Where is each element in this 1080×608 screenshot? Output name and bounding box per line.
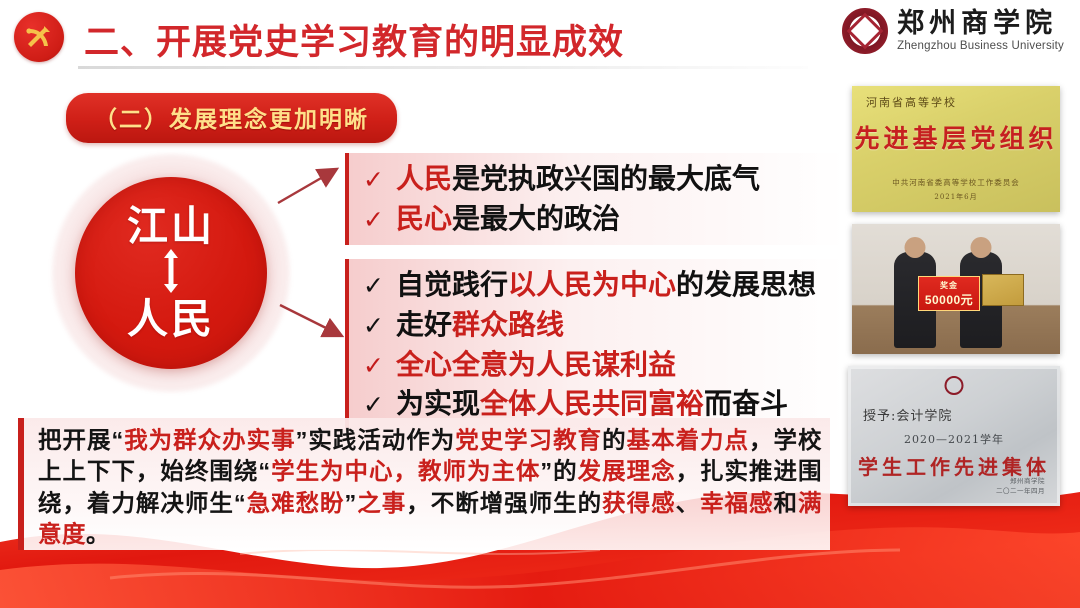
plaque-line-1: 授予:会计学院 xyxy=(863,405,952,424)
bullet-text: 民心是最大的政治 xyxy=(396,199,620,239)
bullet-item: ✓全心全意为人民谋利益 xyxy=(363,345,845,385)
photo-certificate-advanced-party-org: 河南省高等学校 先进基层党组织 中共河南省委高等学校工作委员会 2021年6月 xyxy=(852,86,1060,212)
bullet-item: ✓人民是党执政兴国的最大底气 xyxy=(363,159,845,199)
slide-header: 二、开展党史学习教育的明显成效 郑州商学院 Zhengzhou Business… xyxy=(0,0,1080,72)
photo-award-ceremony: 奖金 50000元 xyxy=(852,224,1060,354)
plaque-line-5: 二〇二一年四月 xyxy=(996,485,1045,495)
plaque-line-4: 郑州商学院 xyxy=(1010,475,1045,485)
bullet-item: ✓自觉践行以人民为中心的发展思想 xyxy=(363,265,845,305)
slide-canvas: 二、开展党史学习教育的明显成效 郑州商学院 Zhengzhou Business… xyxy=(0,0,1080,608)
bullet-block-b: ✓自觉践行以人民为中心的发展思想✓走好群众路线✓全心全意为人民谋利益✓为实现全体… xyxy=(345,259,845,430)
page-title: 二、开展党史学习教育的明显成效 xyxy=(84,14,624,65)
bullet-item: ✓走好群众路线 xyxy=(363,305,845,345)
plaque-line-2: 2020—2021学年 xyxy=(904,431,1004,447)
bullet-text: 人民是党执政兴国的最大底气 xyxy=(396,159,760,199)
jiangshan-renmin-circle: 江山 人民 xyxy=(75,177,267,369)
party-hammer-sickle-icon xyxy=(14,12,64,62)
certificate-line-1: 河南省高等学校 xyxy=(866,94,957,110)
award-certificate-prop xyxy=(982,274,1024,306)
bullet-text: 自觉践行以人民为中心的发展思想 xyxy=(396,265,816,305)
check-icon: ✓ xyxy=(363,163,384,199)
summary-paragraph-box: 把开展“我为群众办实事”实践活动作为党史学习教育的基本着力点，学校上上下下，始终… xyxy=(18,418,830,550)
award-check-prop: 奖金 50000元 xyxy=(918,276,980,311)
bullet-text: 走好群众路线 xyxy=(396,305,564,345)
bullet-item: ✓民心是最大的政治 xyxy=(363,199,845,239)
certificate-line-4: 2021年6月 xyxy=(934,192,977,202)
check-label: 奖金 xyxy=(940,280,958,291)
certificate-line-3: 中共河南省委高等学校工作委员会 xyxy=(892,177,1020,188)
bullet-block-a: ✓人民是党执政兴国的最大底气✓民心是最大的政治 xyxy=(345,153,845,245)
bullet-text: 全心全意为人民谋利益 xyxy=(396,345,676,385)
check-icon: ✓ xyxy=(363,349,384,385)
section-subtitle-pill: （二）发展理念更加明晰 xyxy=(66,93,397,143)
certificate-line-2: 先进基层党组织 xyxy=(854,119,1057,155)
university-crest-icon xyxy=(842,8,888,54)
university-name-en: Zhengzhou Business University xyxy=(897,40,1064,52)
plaque-crest-icon xyxy=(945,376,964,395)
double-arrow-vertical-icon xyxy=(160,249,182,298)
summary-paragraph-text: 把开展“我为群众办实事”实践活动作为党史学习教育的基本着力点，学校上上下下，始终… xyxy=(38,425,822,550)
circle-bottom-word: 人民 xyxy=(127,299,215,341)
check-amount: 50000元 xyxy=(925,291,973,308)
photo-plaque-student-work: 授予:会计学院 2020—2021学年 学生工作先进集体 郑州商学院 二〇二一年… xyxy=(848,366,1060,506)
check-icon: ✓ xyxy=(363,269,384,305)
check-icon: ✓ xyxy=(363,203,384,239)
check-icon: ✓ xyxy=(363,309,384,345)
university-logo: 郑州商学院 Zhengzhou Business University xyxy=(842,8,1064,54)
title-divider xyxy=(78,66,808,69)
university-name-cn: 郑州商学院 xyxy=(897,10,1064,38)
circle-top-word: 江山 xyxy=(127,206,215,248)
